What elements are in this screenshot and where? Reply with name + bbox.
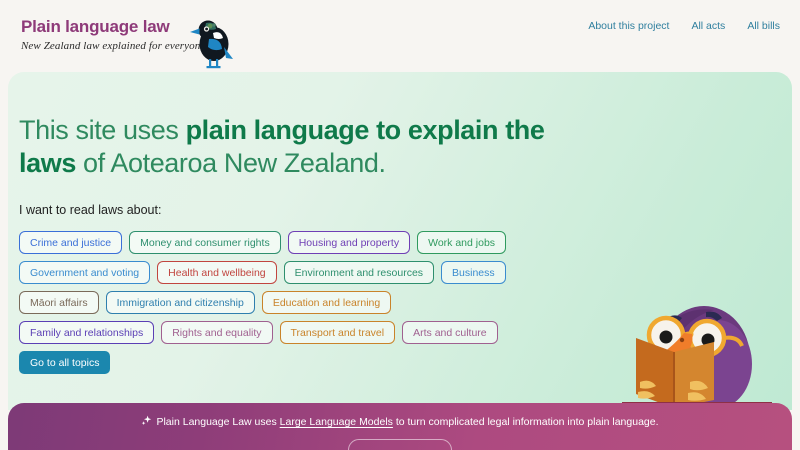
topic-chip-environment-and-resources[interactable]: Environment and resources [284, 261, 434, 284]
go-to-all-topics-button[interactable]: Go to all topics [19, 351, 110, 374]
hero-content: This site uses plain language to explain… [19, 114, 579, 374]
topic-chip-m-ori-affairs[interactable]: Māori affairs [19, 291, 99, 314]
topic-chip-row: Government and votingHealth and wellbein… [19, 261, 579, 284]
topic-chip-list: Crime and justiceMoney and consumer righ… [19, 231, 579, 344]
topic-chip-government-and-voting[interactable]: Government and voting [19, 261, 150, 284]
headline-part-2: of Aotearoa New Zealand. [76, 148, 386, 178]
topics-prompt-label: I want to read laws about: [19, 203, 579, 217]
brand-title: Plain language law [21, 17, 205, 37]
topic-chip-crime-and-justice[interactable]: Crime and justice [19, 231, 122, 254]
site-nav: About this project All acts All bills [588, 20, 780, 32]
topic-chip-row: Family and relationshipsRights and equal… [19, 321, 579, 344]
brand[interactable]: Plain language law New Zealand law expla… [21, 17, 205, 53]
llm-banner-action-button[interactable] [348, 439, 452, 450]
llm-text-after: to turn complicated legal information in… [393, 416, 659, 428]
llm-text-before: Plain Language Law uses [156, 416, 279, 428]
topic-chip-row: Māori affairsImmigration and citizenship… [19, 291, 579, 314]
topic-chip-row: Crime and justiceMoney and consumer righ… [19, 231, 579, 254]
topic-chip-transport-and-travel[interactable]: Transport and travel [280, 321, 396, 344]
hero-card: This site uses plain language to explain… [8, 72, 792, 410]
page-title: This site uses plain language to explain… [19, 114, 579, 180]
topic-chip-family-and-relationships[interactable]: Family and relationships [19, 321, 154, 344]
tui-bird-illustration [188, 14, 240, 70]
brand-tagline: New Zealand law explained for everyone [21, 39, 205, 53]
sparkle-icon [141, 415, 152, 429]
kiwi-reading-book-illustration [622, 290, 772, 410]
llm-disclaimer-text: Plain Language Law uses Large Language M… [8, 415, 792, 429]
large-language-models-link[interactable]: Large Language Models [280, 416, 393, 428]
site-header: Plain language law New Zealand law expla… [0, 0, 800, 72]
nav-link-all-acts[interactable]: All acts [691, 20, 725, 32]
topic-chip-housing-and-property[interactable]: Housing and property [288, 231, 410, 254]
headline-part-1: This site uses [19, 115, 186, 145]
topic-chip-health-and-wellbeing[interactable]: Health and wellbeing [157, 261, 276, 284]
llm-disclaimer-banner: Plain Language Law uses Large Language M… [8, 403, 792, 450]
topic-chip-work-and-jobs[interactable]: Work and jobs [417, 231, 506, 254]
nav-link-all-bills[interactable]: All bills [747, 20, 780, 32]
topic-chip-education-and-learning[interactable]: Education and learning [262, 291, 391, 314]
nav-link-about-this-project[interactable]: About this project [588, 20, 669, 32]
topic-chip-business[interactable]: Business [441, 261, 506, 284]
topic-chip-money-and-consumer-rights[interactable]: Money and consumer rights [129, 231, 281, 254]
topic-chip-arts-and-culture[interactable]: Arts and culture [402, 321, 498, 344]
topic-chip-immigration-and-citizenship[interactable]: Immigration and citizenship [106, 291, 255, 314]
topic-chip-rights-and-equality[interactable]: Rights and equality [161, 321, 272, 344]
